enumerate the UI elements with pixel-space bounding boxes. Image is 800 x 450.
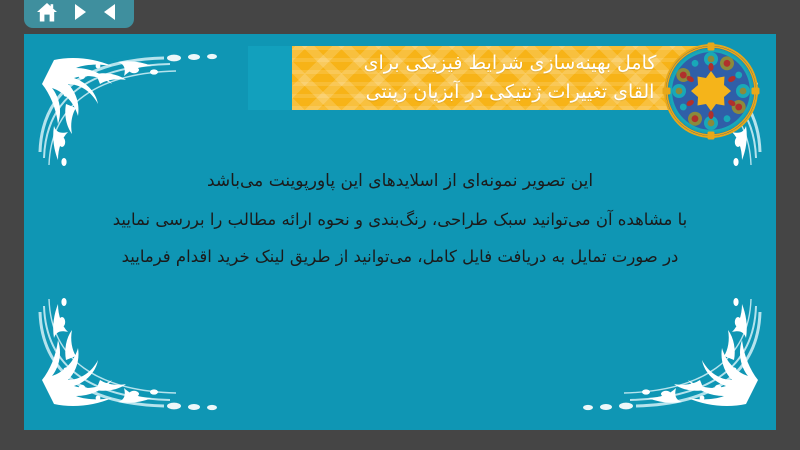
body-line-2: با مشاهده آن می‌توانید سبک طراحی، رنگ‌بن… [58, 201, 742, 239]
triangle-right-icon [69, 2, 89, 22]
home-icon [36, 2, 58, 23]
slide-body-text: این تصویر نمونه‌ای از اسلایدهای این پاور… [24, 162, 776, 276]
body-line-3: در صورت تمایل به دریافت فایل کامل، می‌تو… [58, 238, 742, 276]
back-button[interactable] [99, 1, 123, 23]
screen-root: کامل بهینه‌سازی شرایط فیزیکی برای القای … [0, 0, 800, 450]
slide: کامل بهینه‌سازی شرایط فیزیکی برای القای … [24, 34, 776, 430]
forward-button[interactable] [67, 1, 91, 23]
triangle-left-icon [101, 2, 121, 22]
navigation-bar [24, 0, 134, 28]
body-line-1: این تصویر نمونه‌ای از اسلایدهای این پاور… [58, 162, 742, 201]
home-button[interactable] [35, 1, 59, 23]
